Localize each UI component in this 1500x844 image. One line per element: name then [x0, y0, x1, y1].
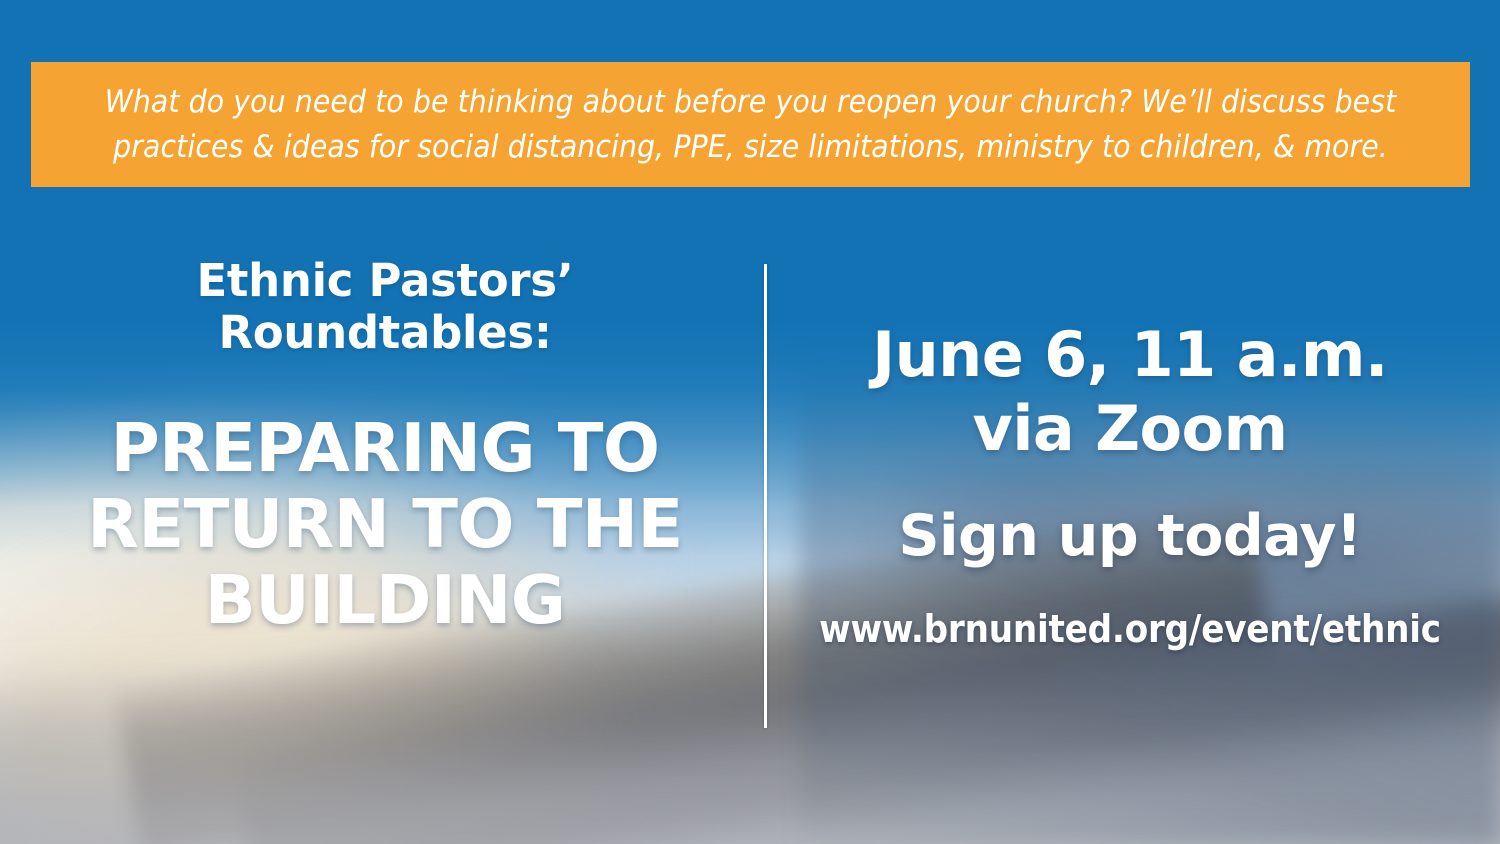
event-date-line: June 6, 11 a.m.: [800, 318, 1460, 392]
event-headline-line-1: PREPARING TO: [40, 411, 730, 487]
description-banner-text: What do you need to be thinking about be…: [31, 80, 1470, 169]
left-content-column: Ethnic Pastors’ Roundtables: PREPARING T…: [40, 255, 730, 638]
registration-url[interactable]: www.brnunited.org/event/ethnic: [800, 607, 1460, 653]
series-title-line-1: Ethnic Pastors’: [40, 255, 730, 307]
event-datetime: June 6, 11 a.m. via Zoom: [800, 318, 1460, 466]
series-title-line-2: Roundtables:: [40, 307, 730, 359]
event-headline-line-3: BUILDING: [40, 563, 730, 639]
description-banner: What do you need to be thinking about be…: [31, 62, 1470, 187]
series-title: Ethnic Pastors’ Roundtables:: [40, 255, 730, 359]
right-content-column: June 6, 11 a.m. via Zoom Sign up today! …: [800, 318, 1460, 653]
event-platform-line: via Zoom: [800, 392, 1460, 466]
event-promo-graphic: What do you need to be thinking about be…: [0, 0, 1500, 844]
vertical-divider: [764, 264, 767, 728]
event-headline: PREPARING TO RETURN TO THE BUILDING: [40, 411, 730, 638]
signup-call-to-action: Sign up today!: [800, 504, 1460, 570]
event-headline-line-2: RETURN TO THE: [40, 487, 730, 563]
